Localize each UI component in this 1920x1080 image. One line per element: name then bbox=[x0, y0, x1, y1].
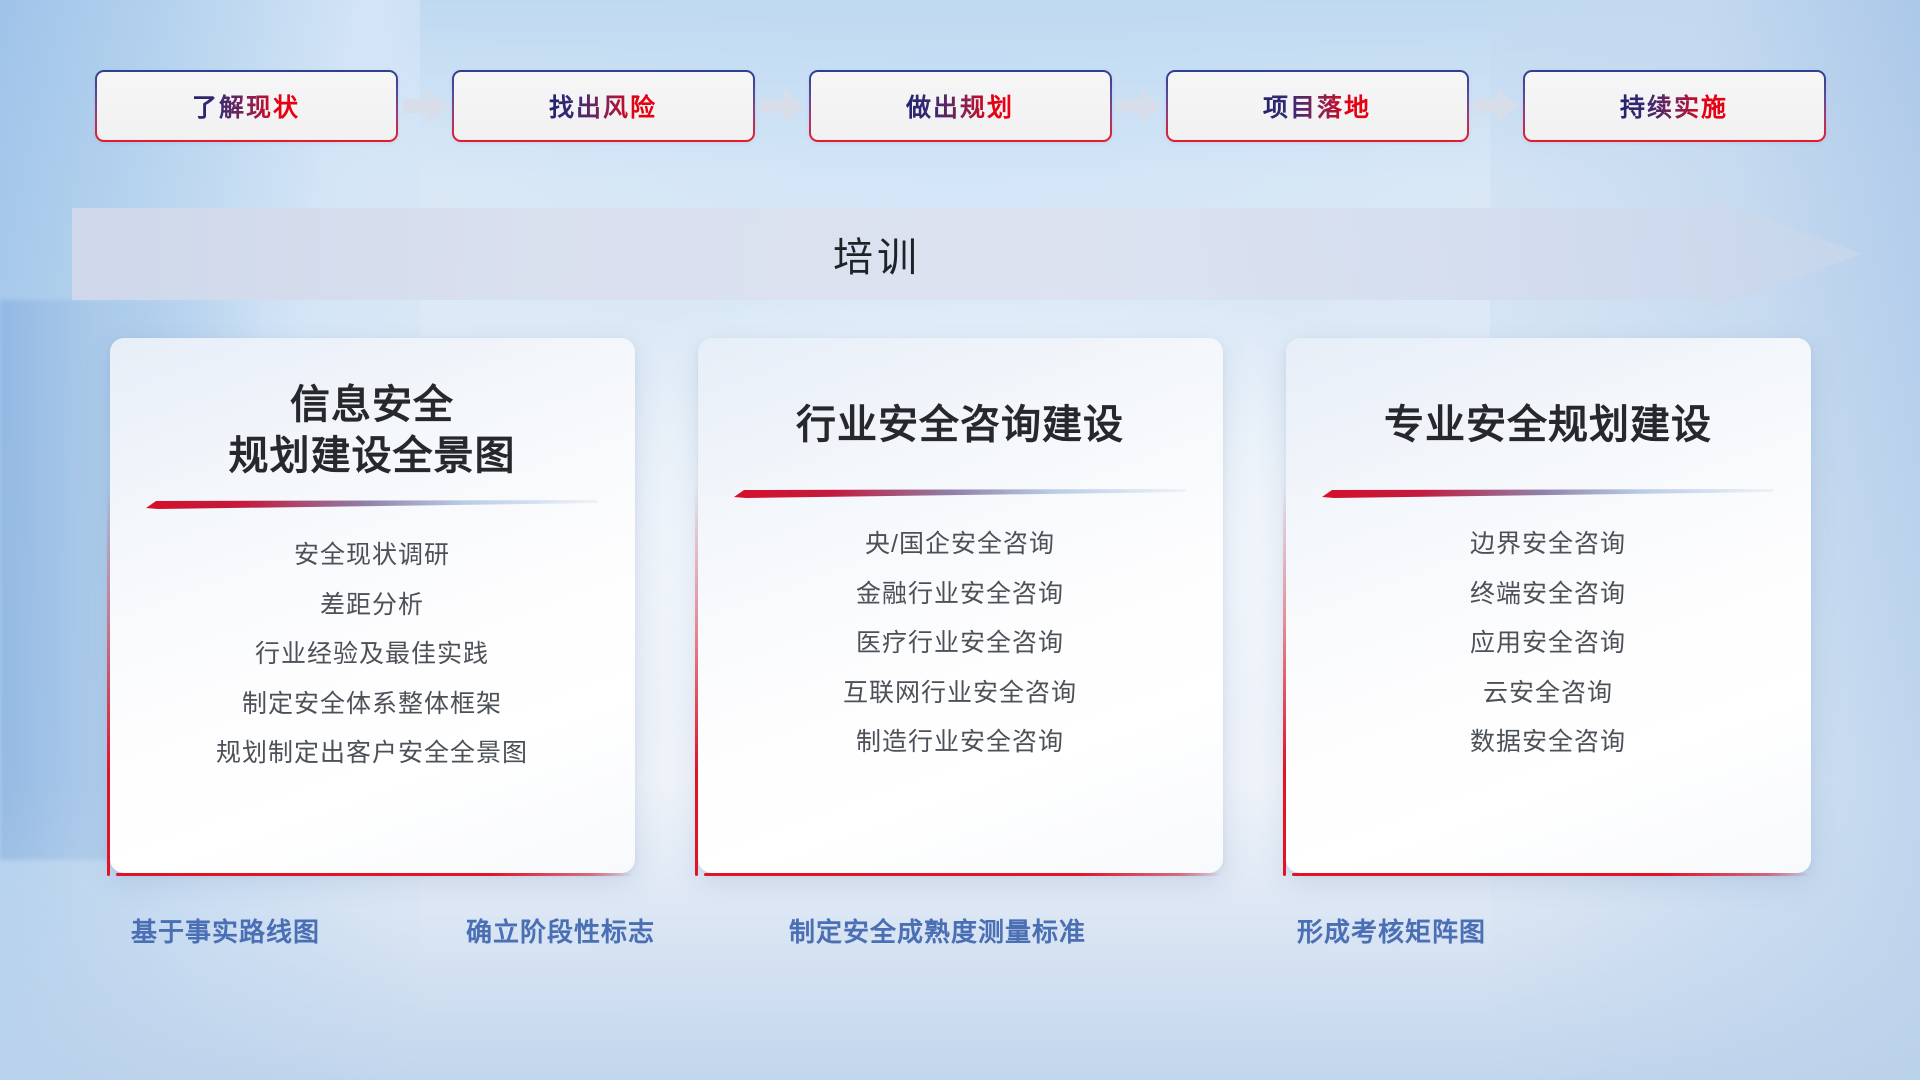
card-title: 行业安全咨询建设 bbox=[796, 400, 1124, 451]
step-arrow-icon-4 bbox=[1469, 70, 1523, 142]
list-item: 医疗行业安全咨询 bbox=[856, 625, 1064, 663]
list-item: 安全现状调研 bbox=[294, 537, 450, 575]
step-arrow-icon-3 bbox=[1112, 70, 1166, 142]
card-item-list: 央/国企安全咨询 金融行业安全咨询 医疗行业安全咨询 互联网行业安全咨询 制造行… bbox=[724, 526, 1197, 762]
footer-label-1: 基于事实路线图 bbox=[131, 912, 320, 949]
footer-label-row: 基于事实路线图 确立阶段性标志 制定安全成熟度测量标准 形成考核矩阵图 bbox=[0, 912, 1920, 962]
card-divider bbox=[146, 500, 598, 509]
list-item: 互联网行业安全咨询 bbox=[843, 675, 1077, 713]
step-label-3: 做出规划 bbox=[906, 88, 1014, 124]
list-item: 制定安全体系整体框架 bbox=[242, 686, 502, 724]
card-professional-security-planning[interactable]: 专业安全规划建设 边界安全咨询 bbox=[1286, 338, 1811, 873]
step-box-3[interactable]: 做出规划 bbox=[809, 70, 1112, 142]
footer-label-4: 形成考核矩阵图 bbox=[1297, 912, 1486, 949]
step-label-1: 了解现状 bbox=[192, 88, 300, 124]
step-box-1[interactable]: 了解现状 bbox=[95, 70, 398, 142]
step-box-4[interactable]: 项目落地 bbox=[1166, 70, 1469, 142]
training-band-label: 培训 bbox=[833, 225, 921, 283]
list-item: 应用安全咨询 bbox=[1470, 625, 1626, 663]
step-box-5[interactable]: 持续实施 bbox=[1523, 70, 1826, 142]
card-information-security[interactable]: 信息安全 规划建设全景图 安全现状调研 bbox=[110, 338, 635, 873]
card-divider bbox=[734, 489, 1186, 498]
list-item: 云安全咨询 bbox=[1483, 675, 1613, 713]
step-arrow-icon-2 bbox=[755, 70, 809, 142]
step-label-5: 持续实施 bbox=[1620, 88, 1728, 124]
step-arrow-icon-1 bbox=[398, 70, 452, 142]
list-item: 数据安全咨询 bbox=[1470, 724, 1626, 762]
list-item: 制造行业安全咨询 bbox=[856, 724, 1064, 762]
footer-label-3: 制定安全成熟度测量标准 bbox=[789, 912, 1086, 949]
list-item: 边界安全咨询 bbox=[1470, 526, 1626, 564]
step-label-4: 项目落地 bbox=[1263, 88, 1371, 124]
step-box-2[interactable]: 找出风险 bbox=[452, 70, 755, 142]
card-group: 信息安全 规划建设全景图 安全现状调研 bbox=[0, 338, 1920, 878]
footer-label-2: 确立阶段性标志 bbox=[466, 912, 655, 949]
card-item-list: 安全现状调研 差距分析 行业经验及最佳实践 制定安全体系整体框架 规划制定出客户… bbox=[136, 537, 609, 773]
list-item: 金融行业安全咨询 bbox=[856, 576, 1064, 614]
training-band: 培训 bbox=[72, 200, 1862, 308]
list-item: 央/国企安全咨询 bbox=[865, 526, 1055, 564]
card-industry-security-consulting[interactable]: 行业安全咨询建设 央/国企安全咨询 bbox=[698, 338, 1223, 873]
training-band-label-wrap: 培训 bbox=[72, 200, 1862, 308]
process-step-flow: 了解现状 找出风险 做出规划 项目落地 持续实施 bbox=[0, 70, 1920, 142]
card-divider bbox=[1322, 489, 1774, 498]
list-item: 行业经验及最佳实践 bbox=[255, 636, 489, 674]
card-item-list: 边界安全咨询 终端安全咨询 应用安全咨询 云安全咨询 数据安全咨询 bbox=[1312, 526, 1785, 762]
card-title: 专业安全规划建设 bbox=[1384, 400, 1712, 451]
list-item: 规划制定出客户安全全景图 bbox=[216, 735, 528, 773]
list-item: 终端安全咨询 bbox=[1470, 576, 1626, 614]
list-item: 差距分析 bbox=[320, 587, 424, 625]
card-title: 信息安全 规划建设全景图 bbox=[229, 380, 516, 482]
step-label-2: 找出风险 bbox=[549, 88, 657, 124]
